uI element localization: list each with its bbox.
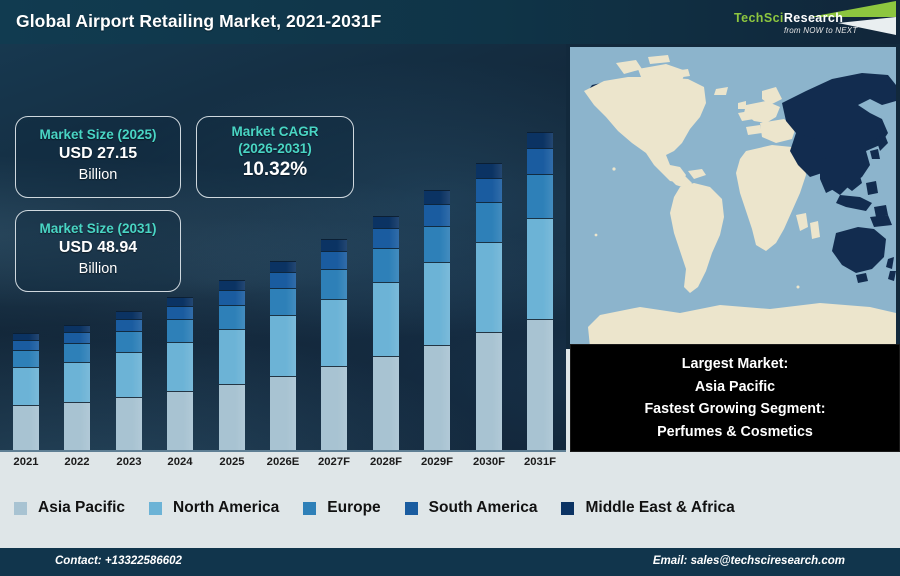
bar-segment[interactable] xyxy=(476,178,502,202)
x-axis-tick-label: 2021 xyxy=(1,456,51,468)
logo-wordmark: TechSciResearch xyxy=(734,11,843,25)
bar-column[interactable] xyxy=(527,132,553,452)
info-line: Perfumes & Cosmetics xyxy=(657,421,813,444)
chart-panel: Market Size (2025) USD 27.15 Billion Mar… xyxy=(0,44,566,452)
bar-column[interactable] xyxy=(219,280,245,452)
legend-item[interactable]: Asia Pacific xyxy=(14,499,149,517)
bar-segment[interactable] xyxy=(64,343,90,361)
bar-segment[interactable] xyxy=(219,329,245,383)
bar-segment[interactable] xyxy=(373,228,399,248)
bar-column[interactable] xyxy=(476,163,502,452)
bar-segment[interactable] xyxy=(13,405,39,452)
bar-segment[interactable] xyxy=(13,367,39,405)
bar-column[interactable] xyxy=(373,216,399,452)
bar-column[interactable] xyxy=(167,297,193,452)
bar-segment[interactable] xyxy=(219,290,245,305)
legend-label: Asia Pacific xyxy=(38,499,125,517)
bar-segment[interactable] xyxy=(64,332,90,343)
bar-segment[interactable] xyxy=(321,239,347,251)
bar-segment[interactable] xyxy=(270,288,296,316)
bar-segment[interactable] xyxy=(116,352,142,397)
bar-segment[interactable] xyxy=(424,190,450,204)
bar-segment[interactable] xyxy=(424,226,450,263)
bar-segment[interactable] xyxy=(13,340,39,351)
logo-tech-text: TechSci xyxy=(734,11,784,25)
bar-segment[interactable] xyxy=(64,402,90,452)
x-axis-tick-label: 2024 xyxy=(155,456,205,468)
footer-contact[interactable]: Contact: +13322586602 xyxy=(55,555,182,567)
legend-label: Middle East & Africa xyxy=(585,499,734,517)
info-line: Largest Market: xyxy=(682,353,788,376)
bar-segment[interactable] xyxy=(167,306,193,320)
bar-segment[interactable] xyxy=(167,297,193,306)
info-line: Asia Pacific xyxy=(695,376,775,399)
x-axis-tick-label: 2022 xyxy=(52,456,102,468)
logo-research-text: Research xyxy=(784,11,844,25)
x-axis-tick-label: 2031F xyxy=(515,456,565,468)
x-axis-tick-label: 2029F xyxy=(412,456,462,468)
bar-segment[interactable] xyxy=(270,261,296,272)
bar-segment[interactable] xyxy=(321,299,347,366)
bar-column[interactable] xyxy=(321,239,347,452)
legend-item[interactable]: North America xyxy=(149,499,303,517)
legend-swatch xyxy=(303,502,316,515)
header-bar: Global Airport Retailing Market, 2021-20… xyxy=(0,0,900,44)
bar-segment[interactable] xyxy=(321,269,347,299)
bar-segment[interactable] xyxy=(270,315,296,375)
legend-item[interactable]: Middle East & Africa xyxy=(561,499,758,517)
page-title: Global Airport Retailing Market, 2021-20… xyxy=(16,11,381,32)
bar-segment[interactable] xyxy=(270,376,296,452)
techsci-research-logo[interactable]: TechSciResearch from NOW to NEXT xyxy=(710,1,896,43)
bar-column[interactable] xyxy=(270,261,296,452)
legend-item[interactable]: Europe xyxy=(303,499,404,517)
bar-segment[interactable] xyxy=(219,384,245,452)
bar-segment[interactable] xyxy=(64,362,90,403)
bar-segment[interactable] xyxy=(373,216,399,228)
stacked-bar-plot xyxy=(0,44,566,452)
bar-segment[interactable] xyxy=(527,148,553,174)
x-axis-tick-label: 2027F xyxy=(309,456,359,468)
footer-bar: Contact: +13322586602 Email: sales@techs… xyxy=(0,548,900,576)
bar-segment[interactable] xyxy=(424,345,450,452)
x-axis-tick-label: 2030F xyxy=(464,456,514,468)
legend-swatch xyxy=(405,502,418,515)
bar-segment[interactable] xyxy=(270,272,296,288)
bar-segment[interactable] xyxy=(167,342,193,391)
bar-segment[interactable] xyxy=(527,218,553,319)
world-map-icon xyxy=(570,47,896,347)
logo-tagline: from NOW to NEXT xyxy=(784,26,857,35)
bar-segment[interactable] xyxy=(527,132,553,148)
bar-segment[interactable] xyxy=(116,397,142,452)
legend-swatch xyxy=(14,502,27,515)
bar-segment[interactable] xyxy=(373,282,399,356)
bar-column[interactable] xyxy=(116,311,142,452)
x-axis-tick-label: 2026E xyxy=(258,456,308,468)
legend-swatch xyxy=(561,502,574,515)
world-map-panel xyxy=(566,44,900,349)
x-axis-labels: 202120222023202420252026E2027F2028F2029F… xyxy=(0,452,566,476)
bar-segment[interactable] xyxy=(424,262,450,344)
bar-segment[interactable] xyxy=(373,356,399,452)
bar-segment[interactable] xyxy=(219,305,245,330)
legend-label: Europe xyxy=(327,499,380,517)
bar-segment[interactable] xyxy=(373,248,399,282)
bar-segment[interactable] xyxy=(476,202,502,242)
bar-segment[interactable] xyxy=(321,366,347,452)
footer-email[interactable]: Email: sales@techsciresearch.com xyxy=(653,555,845,567)
x-axis-tick-label: 2023 xyxy=(104,456,154,468)
info-line: Fastest Growing Segment: xyxy=(644,398,825,421)
bar-segment[interactable] xyxy=(116,319,142,332)
legend-label: South America xyxy=(429,499,538,517)
bar-segment[interactable] xyxy=(116,311,142,319)
bar-segment[interactable] xyxy=(424,204,450,226)
bar-segment[interactable] xyxy=(167,319,193,341)
key-insights-panel: Largest Market:Asia PacificFastest Growi… xyxy=(570,344,900,452)
bar-segment[interactable] xyxy=(321,251,347,269)
legend-label: North America xyxy=(173,499,279,517)
legend-swatch xyxy=(149,502,162,515)
bar-segment[interactable] xyxy=(476,163,502,178)
legend-item[interactable]: South America xyxy=(405,499,562,517)
bar-segment[interactable] xyxy=(219,280,245,290)
bar-column[interactable] xyxy=(13,333,39,452)
world-map xyxy=(570,47,896,347)
x-axis-tick-label: 2025 xyxy=(207,456,257,468)
bar-segment[interactable] xyxy=(116,331,142,351)
bar-column[interactable] xyxy=(424,190,450,452)
bar-segment[interactable] xyxy=(476,332,502,452)
bar-segment[interactable] xyxy=(13,350,39,367)
chart-legend: Asia PacificNorth AmericaEuropeSouth Ame… xyxy=(0,476,900,540)
bar-segment[interactable] xyxy=(527,319,553,452)
infographic-root: Global Airport Retailing Market, 2021-20… xyxy=(0,0,900,576)
bar-column[interactable] xyxy=(64,325,90,452)
bar-segment[interactable] xyxy=(167,391,193,452)
bar-segment[interactable] xyxy=(64,325,90,332)
bar-segment[interactable] xyxy=(527,174,553,218)
x-axis-tick-label: 2028F xyxy=(361,456,411,468)
bar-segment[interactable] xyxy=(476,242,502,333)
